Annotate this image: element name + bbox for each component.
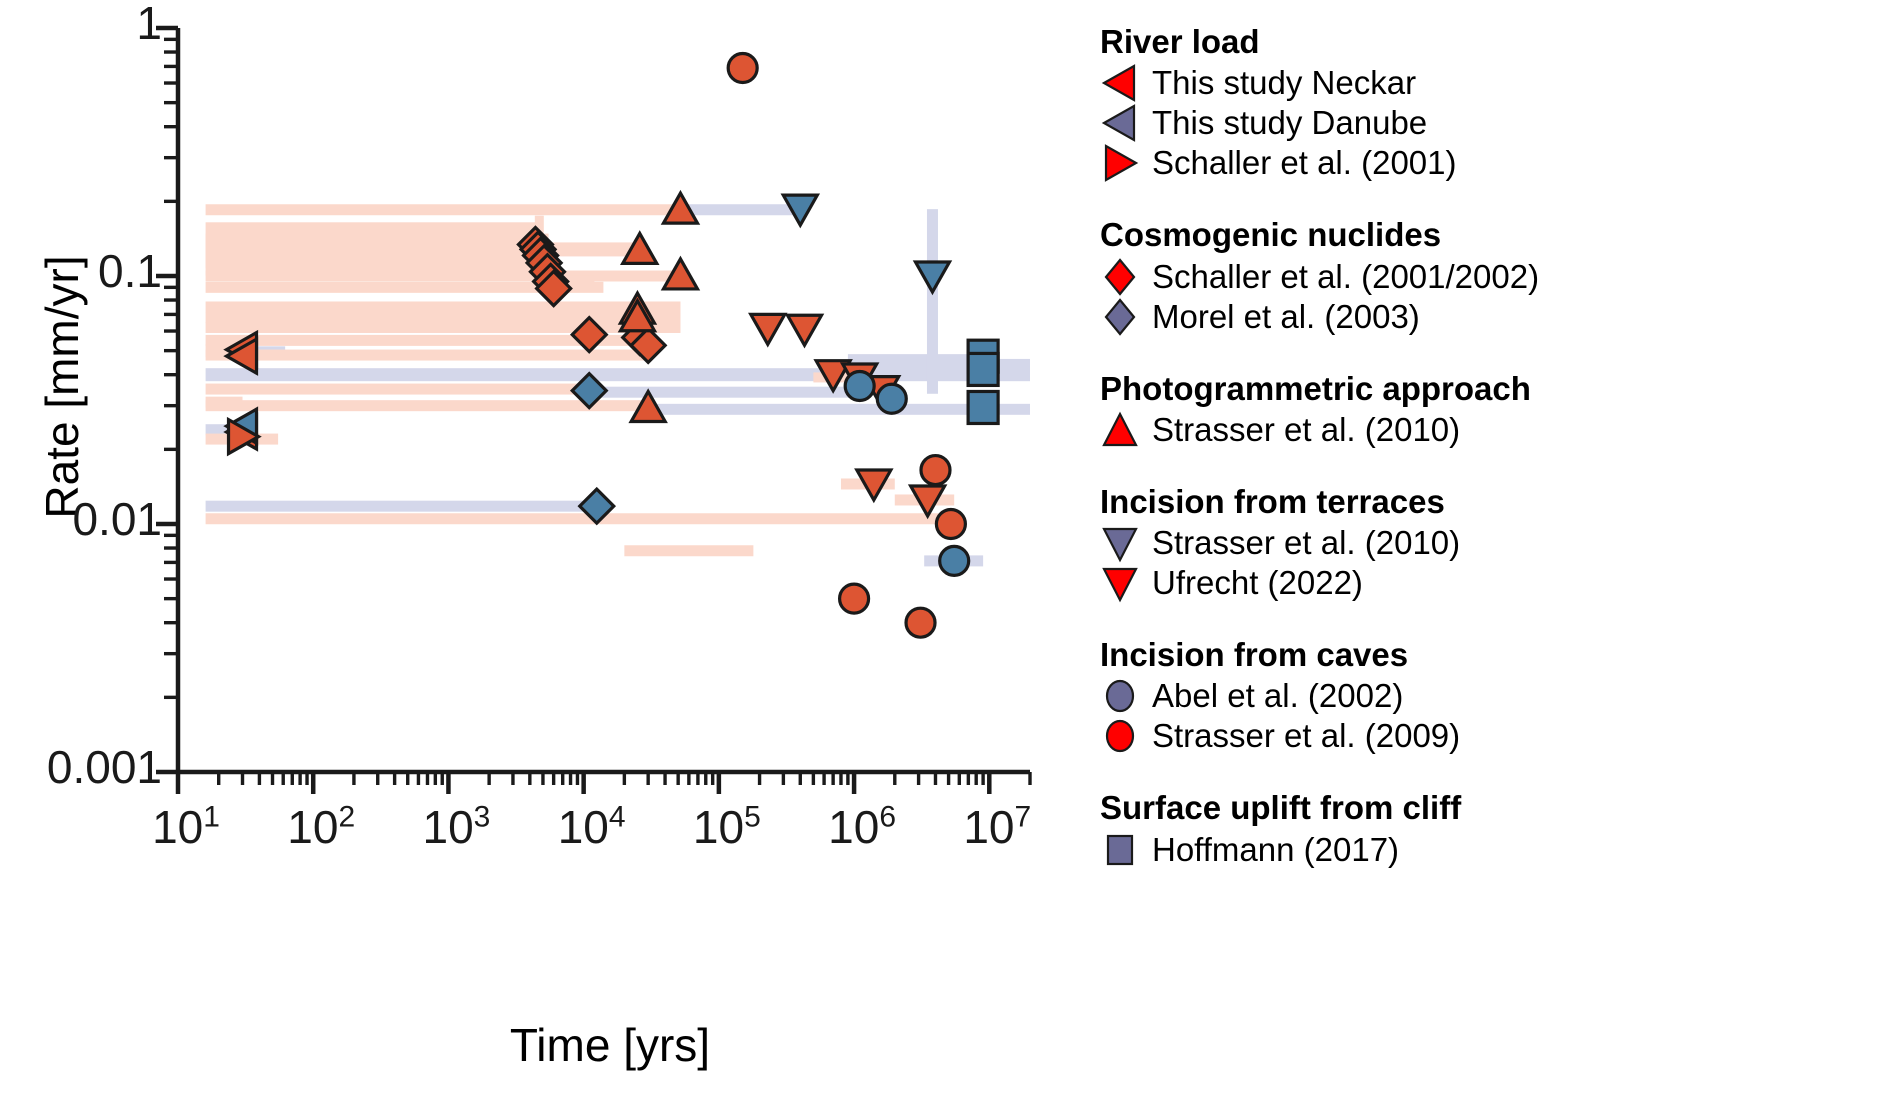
legend-item-label: Schaller et al. (2001) [1152,143,1457,183]
errorbar-horizontal [206,384,590,395]
legend-group-heading: Incision from terraces [1100,482,1880,522]
y-tick-label-text: 0.1 [98,248,162,294]
errorbar-horizontal [206,350,649,361]
x-tick-exponent: 4 [609,801,626,834]
y-tick-label-text: 0.01 [72,496,162,542]
y-tick-label-text: 1 [136,0,162,46]
legend-item-label: Strasser et al. (2009) [1152,716,1460,756]
triangle-up-icon [1100,410,1146,450]
figure-root: Rate [mm/yr] Time [yrs] 10.10.010.001 10… [0,0,1892,1096]
marker-circle [840,584,869,613]
triangle-down-icon [1100,563,1146,603]
legend-item-label: Ufrecht (2022) [1152,563,1363,603]
marker-circle [936,510,965,539]
x-tick-base: 10 [963,801,1014,853]
legend-group: Cosmogenic nuclidesSchaller et al. (2001… [1100,215,1880,336]
x-tick-exponent: 5 [744,801,761,834]
errorbar-horizontal [206,301,681,312]
x-tick-base: 10 [558,801,609,853]
legend-group: Photogrammetric approachStrasser et al. … [1100,369,1880,450]
x-axis-title: Time [yrs] [430,1018,790,1072]
x-tick-exponent: 3 [474,801,491,834]
legend-group-heading: Cosmogenic nuclides [1100,215,1880,255]
legend-item[interactable]: Abel et al. (2002) [1100,676,1880,716]
marker-triangle-down [788,315,822,345]
triangle-down-icon [1100,523,1146,563]
legend-item-label: Strasser et al. (2010) [1152,523,1460,563]
legend-group-spacer [1100,189,1880,215]
errorbar-horizontal [206,322,681,333]
legend-item-label: Strasser et al. (2010) [1152,410,1460,450]
x-tick-exponent: 1 [203,801,220,834]
legend-item-label: Hoffmann (2017) [1152,830,1399,870]
legend-group-spacer [1100,456,1880,482]
x-tick-exponent: 2 [338,801,355,834]
x-tick-label: 104 [532,804,652,850]
x-tick-base: 10 [693,801,744,853]
legend-group: Incision from terracesStrasser et al. (2… [1100,482,1880,603]
errorbar-horizontal [206,271,681,282]
legend-group-heading: Incision from caves [1100,635,1880,675]
legend-group-heading: Photogrammetric approach [1100,369,1880,409]
marker-triangle-down [751,314,785,344]
x-tick-base: 10 [287,801,338,853]
errorbar-horizontal [549,242,638,256]
legend-group: River loadThis study NeckarThis study Da… [1100,22,1880,183]
x-tick-label: 103 [396,804,516,850]
marker-triangle-down [915,262,949,292]
circle-icon [1100,716,1146,756]
legend-item[interactable]: This study Neckar [1100,63,1880,103]
y-tick-label-text: 0.001 [47,744,162,790]
errorbar-layer [206,204,1030,566]
legend-group: Surface uplift from cliffHoffmann (2017) [1100,788,1880,869]
x-tick-label: 107 [937,804,1057,850]
marker-circle [906,608,935,637]
legend-item[interactable]: Strasser et al. (2009) [1100,716,1880,756]
errorbar-horizontal [624,545,753,556]
series-square [968,340,998,423]
marker-square [968,391,998,423]
x-tick-label: 105 [667,804,787,850]
errorbar-horizontal [206,204,681,215]
x-tick-base: 10 [422,801,473,853]
legend-item[interactable]: This study Danube [1100,103,1880,143]
legend-item-label: Schaller et al. (2001/2002) [1152,257,1539,297]
errorbar-horizontal [206,513,951,524]
series-triangle-down [783,195,949,292]
legend-item[interactable]: Strasser et al. (2010) [1100,410,1880,450]
x-tick-base: 10 [152,801,203,853]
marker-circle [940,546,969,575]
legend: River loadThis study NeckarThis study Da… [1100,22,1880,876]
x-tick-exponent: 7 [1015,801,1032,834]
diamond-icon [1100,297,1146,337]
legend-item[interactable]: Schaller et al. (2001/2002) [1100,257,1880,297]
marker-circle [921,456,950,485]
legend-item[interactable]: Strasser et al. (2010) [1100,523,1880,563]
triangle-left-icon [1100,103,1146,143]
errorbar-horizontal [680,204,800,215]
x-tick-exponent: 6 [879,801,896,834]
legend-item[interactable]: Morel et al. (2003) [1100,297,1880,337]
marker-circle [845,372,874,401]
errorbar-horizontal [206,312,681,323]
triangle-left-icon [1100,63,1146,103]
x-tick-label: 102 [261,804,381,850]
errorbar-horizontal [206,501,597,512]
errorbar-vertical [927,209,938,394]
x-tick-label: 101 [126,804,246,850]
legend-group-heading: River load [1100,22,1880,62]
legend-item-label: This study Neckar [1152,63,1416,103]
x-tick-label: 106 [802,804,922,850]
marker-square [968,353,998,385]
errorbar-horizontal [206,234,549,276]
square-icon [1100,830,1146,870]
circle-icon [1100,676,1146,716]
x-tick-base: 10 [828,801,879,853]
legend-item-label: Abel et al. (2002) [1152,676,1403,716]
legend-group: Incision from cavesAbel et al. (2002)Str… [1100,635,1880,756]
legend-item[interactable]: Hoffmann (2017) [1100,830,1880,870]
marker-circle [877,384,906,413]
legend-item-label: This study Danube [1152,103,1427,143]
legend-group-spacer [1100,343,1880,369]
errorbar-horizontal [206,368,1030,381]
legend-group-spacer [1100,762,1880,788]
legend-item-label: Morel et al. (2003) [1152,297,1420,337]
diamond-icon [1100,257,1146,297]
errorbar-horizontal [589,387,859,398]
legend-group-heading: Surface uplift from cliff [1100,788,1880,828]
legend-group-spacer [1100,609,1880,635]
legend-item[interactable]: Schaller et al. (2001) [1100,143,1880,183]
legend-item[interactable]: Ufrecht (2022) [1100,563,1880,603]
marker-circle [728,53,757,82]
triangle-right-icon [1100,143,1146,183]
